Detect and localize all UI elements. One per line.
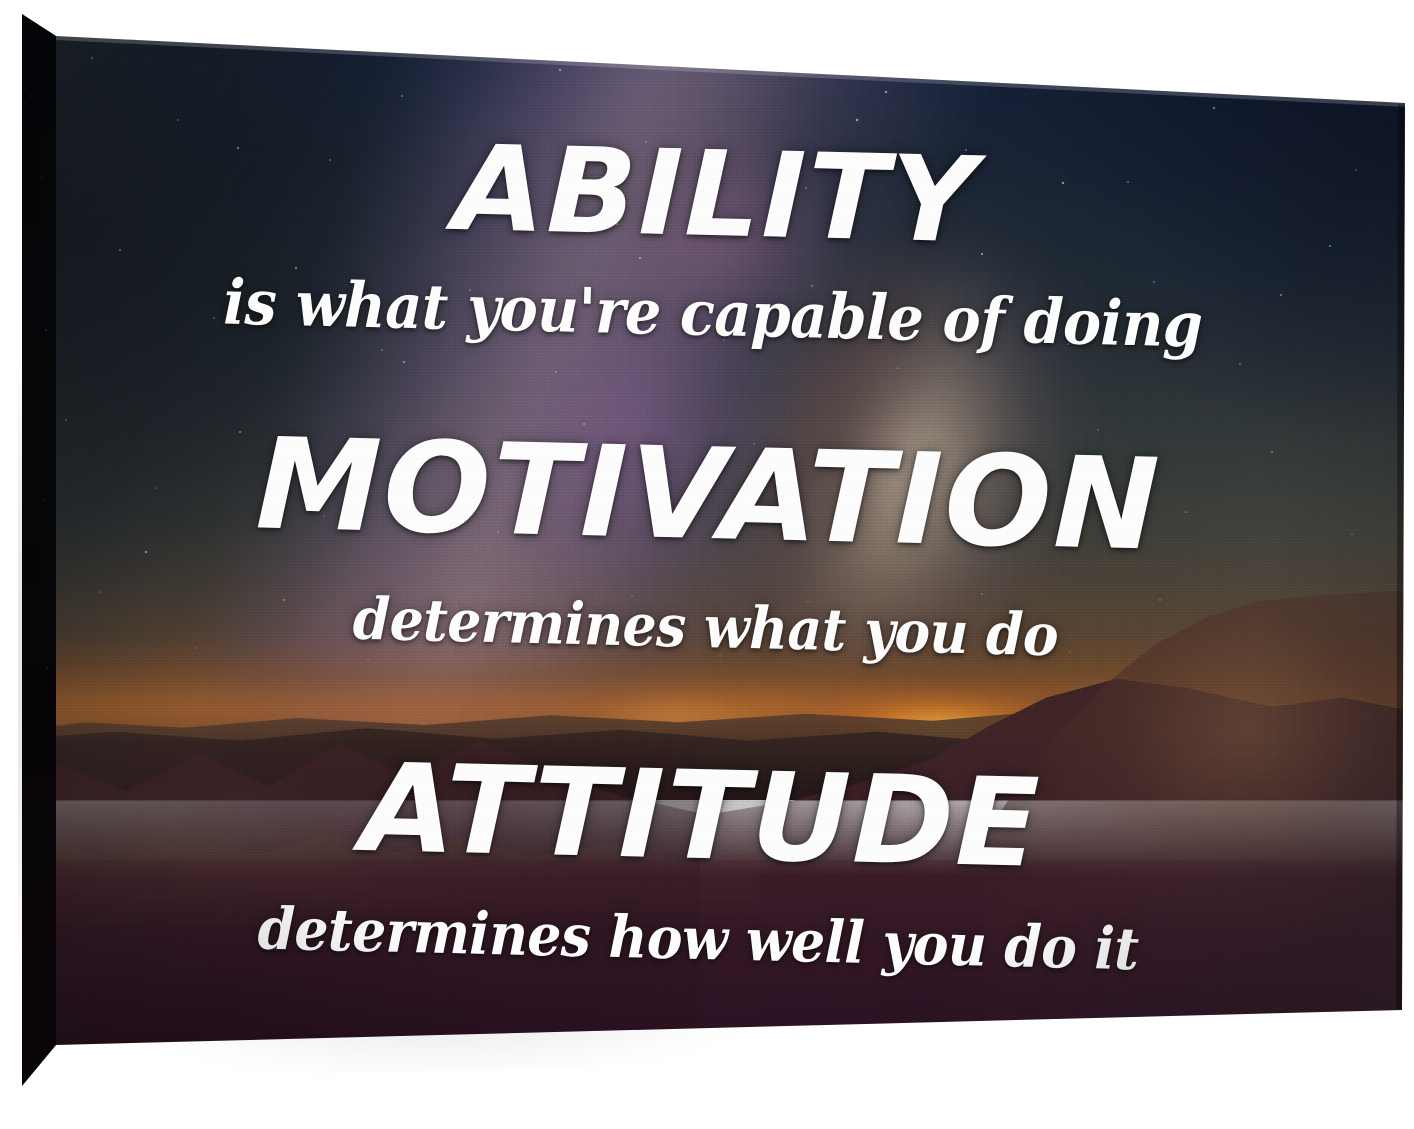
print-vignette — [0, 0, 1414, 1129]
canvas-print-face: ABILITY is what you're capable of doing … — [0, 0, 1414, 1129]
canvas-artwork-stage: ABILITY is what you're capable of doing … — [0, 0, 1414, 1129]
